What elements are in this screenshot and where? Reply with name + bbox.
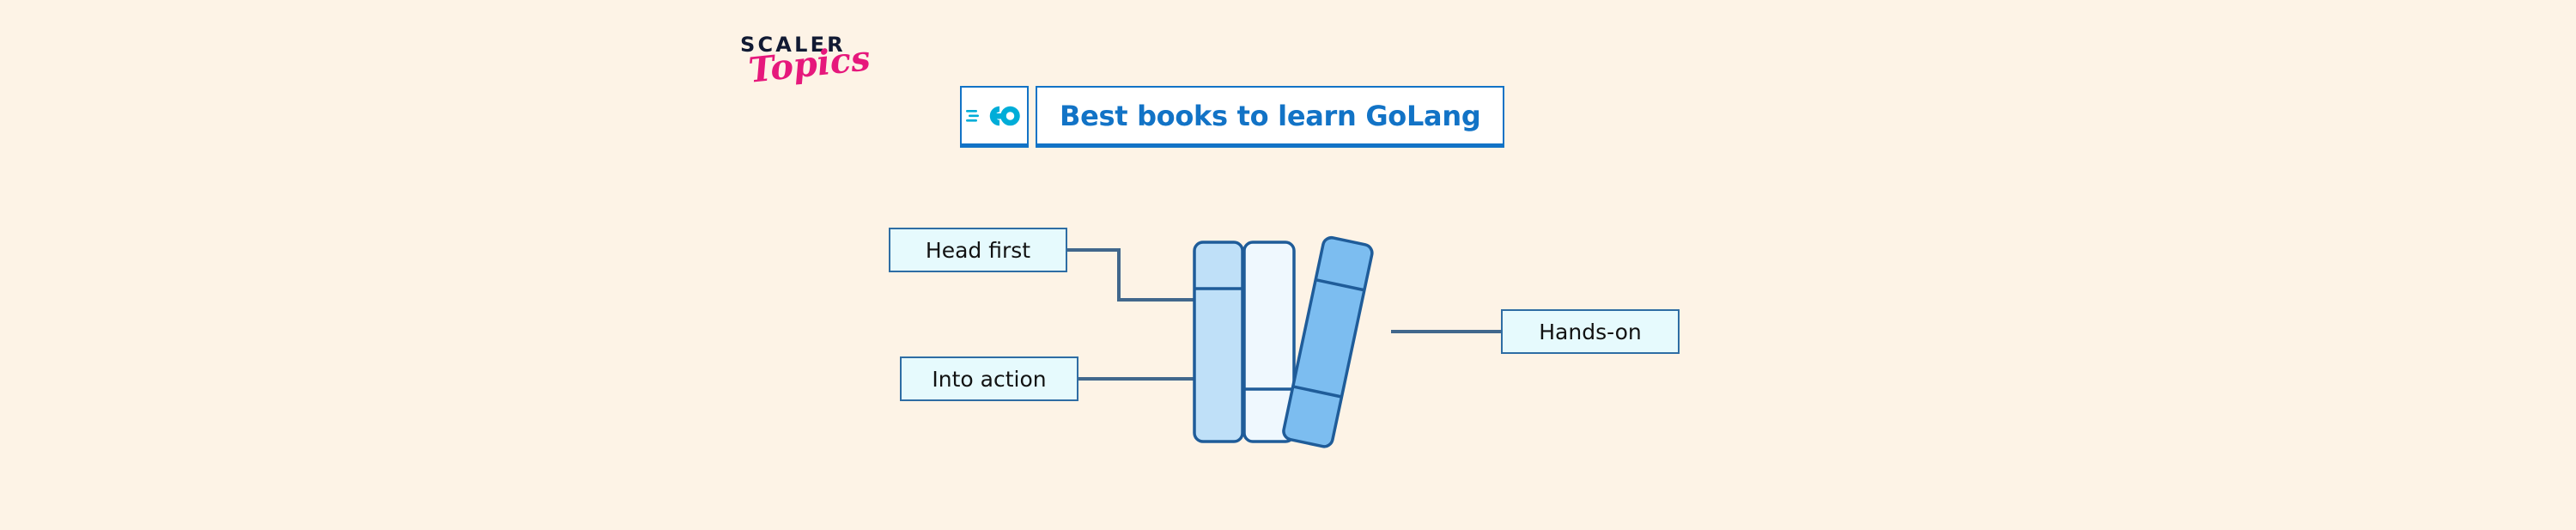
label-head-first: Head first (889, 228, 1067, 272)
label-head-first-text: Head first (926, 238, 1030, 263)
label-hands-on-text: Hands-on (1539, 320, 1641, 344)
label-into-action-text: Into action (932, 367, 1046, 392)
page-root: SCALER Topics Best books to learn GoL (0, 0, 2576, 530)
books-diagram (0, 0, 2576, 530)
label-into-action: Into action (900, 356, 1078, 401)
book-right (1282, 236, 1374, 448)
book-left (1194, 242, 1242, 442)
label-hands-on: Hands-on (1501, 309, 1680, 354)
